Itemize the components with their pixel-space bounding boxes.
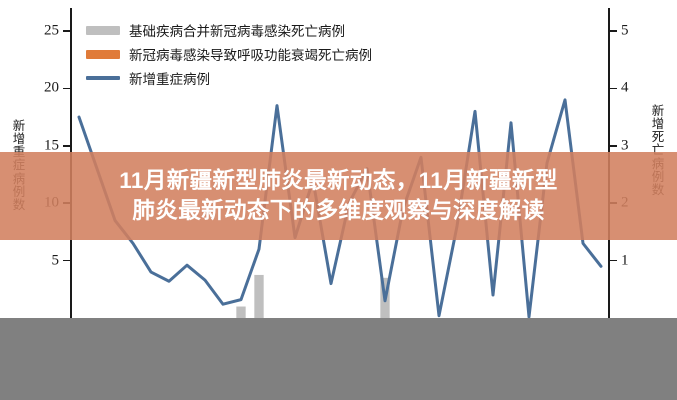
- headline-line-2: 肺炎最新动态下的多维度观察与深度解读: [132, 196, 544, 226]
- legend-label: 新冠病毒感染导致呼吸功能衰竭死亡病例: [129, 44, 372, 64]
- right-tick-label: 4: [621, 80, 629, 97]
- left-tick-label: 20: [44, 80, 59, 97]
- right-tick-mark: [610, 88, 617, 90]
- legend-item: 新增重症病例: [86, 66, 416, 90]
- bottom-gray-band: [0, 318, 677, 400]
- legend-item: 基础疾病合并新冠病毒感染死亡病例: [86, 18, 416, 42]
- legend-label: 基础疾病合并新冠病毒感染死亡病例: [129, 20, 345, 40]
- right-tick-mark: [610, 260, 617, 262]
- bars-group: [236, 275, 389, 318]
- legend-label: 新增重症病例: [129, 68, 210, 88]
- chart-bar: [254, 275, 263, 318]
- left-tick-mark: [63, 88, 70, 90]
- right-tick-label: 5: [621, 22, 629, 39]
- legend-item: 新冠病毒感染导致呼吸功能衰竭死亡病例: [86, 42, 416, 66]
- chart-legend: 基础疾病合并新冠病毒感染死亡病例 新冠病毒感染导致呼吸功能衰竭死亡病例 新增重症…: [86, 18, 416, 90]
- right-tick-label: 1: [621, 252, 629, 269]
- left-tick-mark: [63, 145, 70, 147]
- legend-swatch-new-severe-cases: [86, 76, 120, 79]
- left-tick-label: 5: [52, 252, 60, 269]
- chart-bar: [236, 307, 245, 318]
- headline-overlay-text: 11月新疆新型肺炎最新动态，11月新疆新型 肺炎最新动态下的多维度观察与深度解读: [0, 152, 677, 240]
- chart-screenshot: 252015105 54321 新增重症病例数 新增死亡病例数 基础疾病合并新冠…: [0, 0, 677, 400]
- left-tick-label: 25: [44, 22, 59, 39]
- right-tick-mark: [610, 145, 617, 147]
- left-tick-mark: [63, 30, 70, 32]
- right-tick-mark: [610, 30, 617, 32]
- left-tick-mark: [63, 260, 70, 262]
- headline-line-1: 11月新疆新型肺炎最新动态，11月新疆新型: [119, 166, 557, 196]
- legend-swatch-respiratory-failure-deaths: [86, 50, 120, 59]
- legend-swatch-underlying-disease-deaths: [86, 26, 120, 35]
